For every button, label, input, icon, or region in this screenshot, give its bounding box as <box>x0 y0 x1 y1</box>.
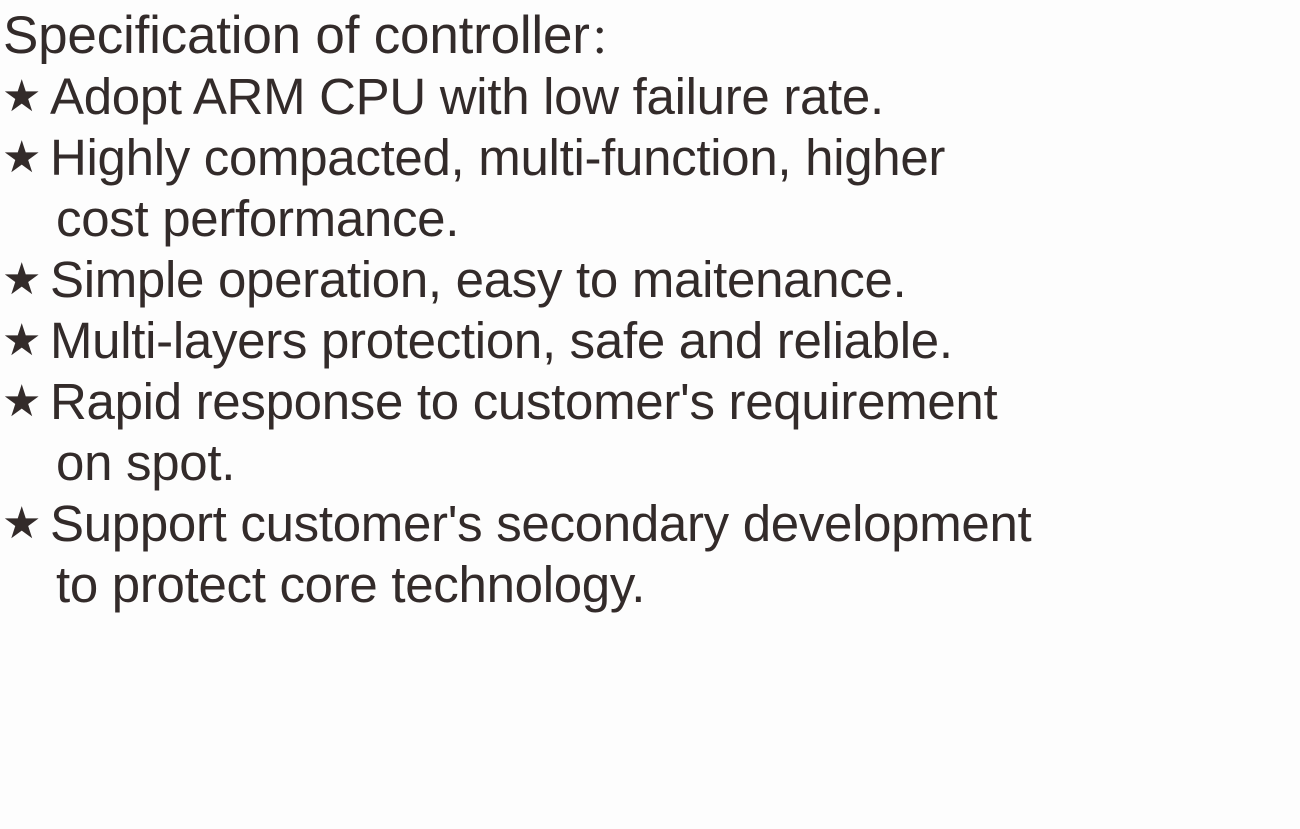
star-bullet-icon: ★ <box>2 371 50 432</box>
list-item-label: Simple operation, easy to maitenance. <box>50 249 1300 310</box>
list-item-label-continuation: to protect core technology. <box>50 554 1300 615</box>
list-item: ★ Multi-layers protection, safe and reli… <box>0 310 1300 371</box>
star-bullet-icon: ★ <box>2 493 50 554</box>
list-item: ★ Support customer's secondary developme… <box>0 493 1300 615</box>
star-bullet-icon: ★ <box>2 249 50 310</box>
list-item-label: Rapid response to customer's requirement <box>50 371 1300 432</box>
list-item: ★ Simple operation, easy to maitenance. <box>0 249 1300 310</box>
page-title-colon: ： <box>590 18 630 62</box>
list-item-label: Support customer's secondary development <box>50 493 1300 554</box>
list-item-label-continuation: cost performance. <box>50 188 1300 249</box>
list-item-label: Highly compacted, multi-function, higher <box>50 127 1300 188</box>
star-bullet-icon: ★ <box>2 310 50 371</box>
list-item: ★ Rapid response to customer's requireme… <box>0 371 1300 493</box>
specification-bullet-list: ★ Adopt ARM CPU with low failure rate. ★… <box>0 66 1300 615</box>
page-title: Specification of controller： <box>3 5 630 71</box>
page-title-text: Specification of controller <box>3 6 590 65</box>
star-bullet-icon: ★ <box>2 127 50 188</box>
star-bullet-icon: ★ <box>2 66 50 127</box>
specification-sheet: Specification of controller： ★ Adopt ARM… <box>0 0 1300 829</box>
list-item-label: Adopt ARM CPU with low failure rate. <box>50 66 1300 127</box>
list-item-label-continuation: on spot. <box>50 432 1300 493</box>
list-item: ★ Adopt ARM CPU with low failure rate. <box>0 66 1300 127</box>
list-item: ★ Highly compacted, multi-function, high… <box>0 127 1300 249</box>
list-item-label: Multi-layers protection, safe and reliab… <box>50 310 1300 371</box>
